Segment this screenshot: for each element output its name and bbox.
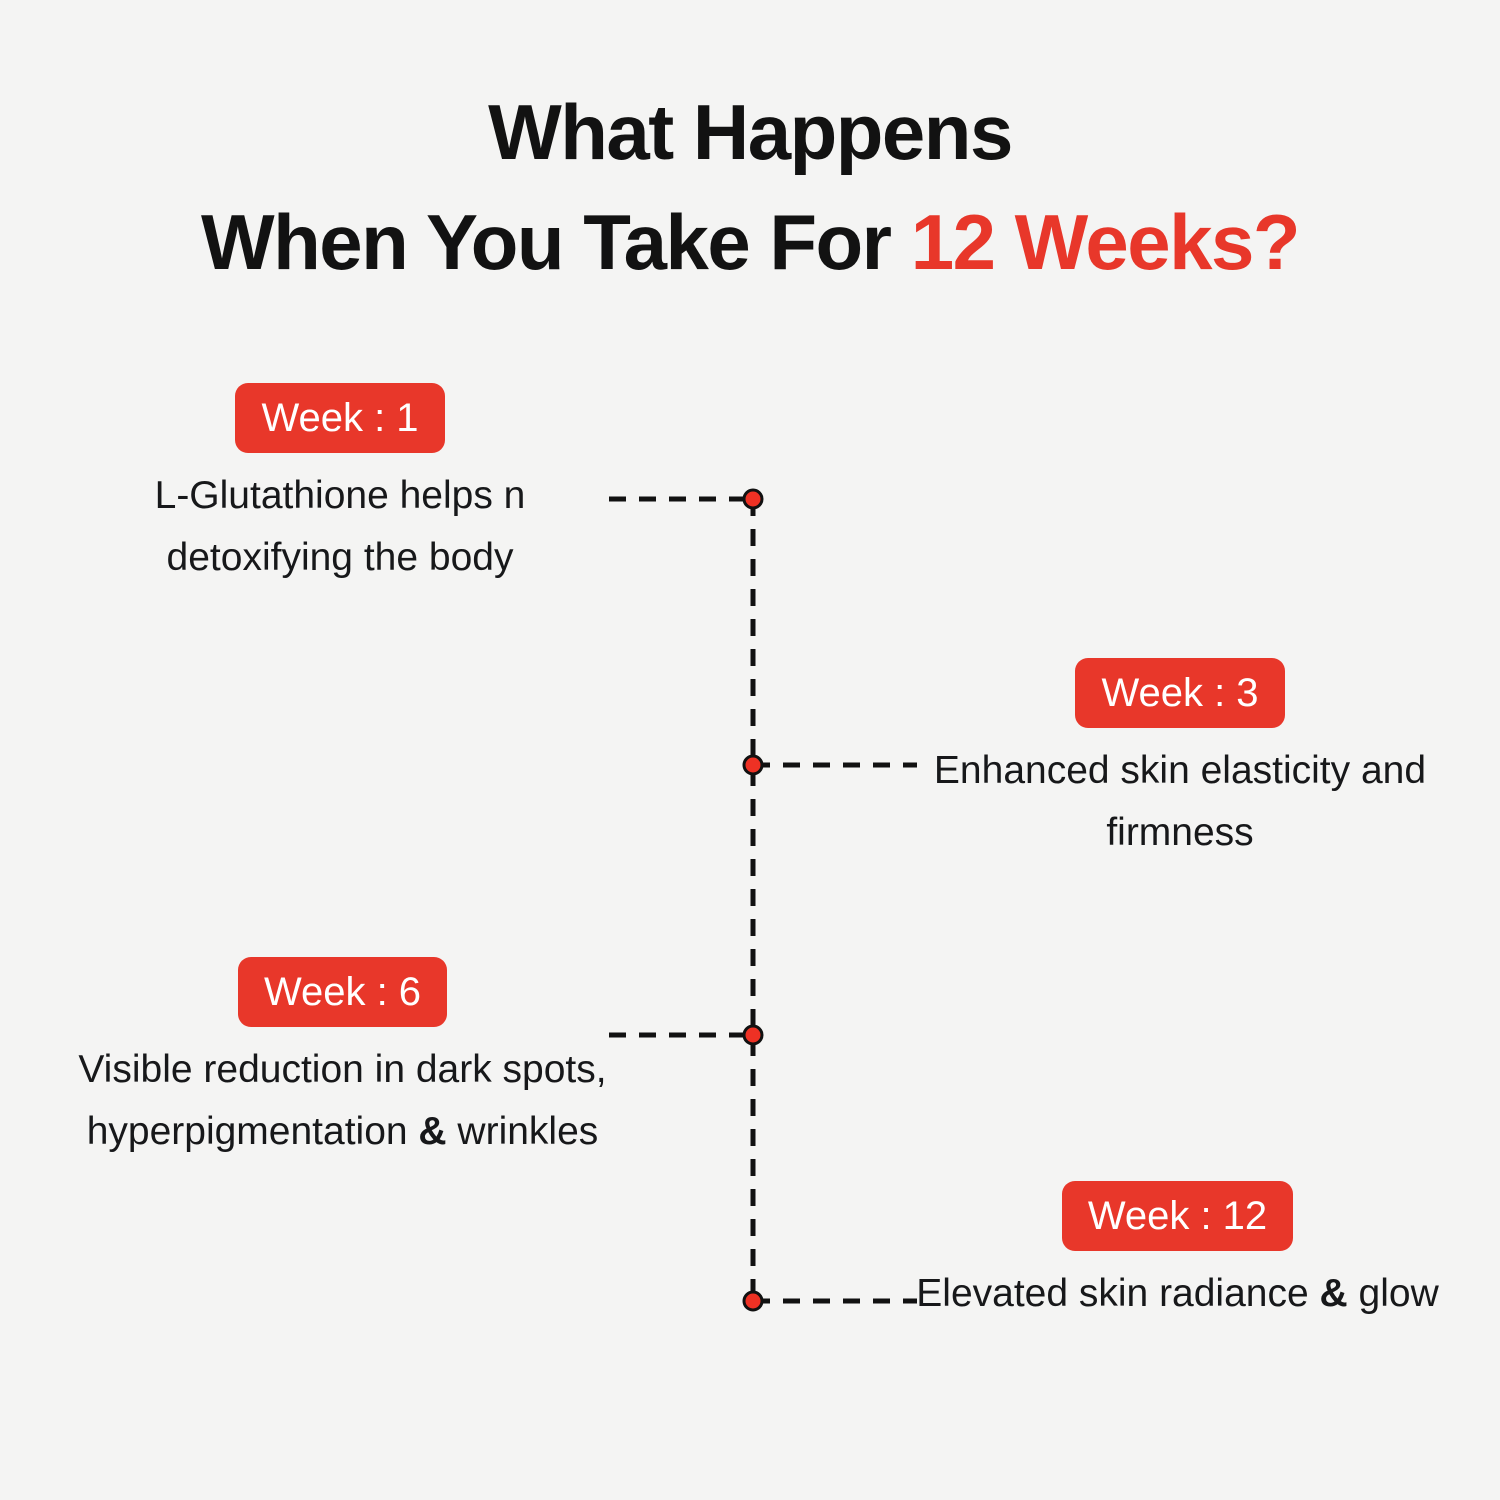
infographic-canvas: What Happens When You Take For 12 Weeks?… <box>0 0 1500 1500</box>
milestone-description-week-12-part2: glow <box>1348 1272 1439 1315</box>
status-badge-week-12: Week : 12 <box>1062 1181 1293 1251</box>
badge-row-week-1: Week : 1 <box>95 383 585 453</box>
status-badge-week-6: Week : 6 <box>238 957 447 1027</box>
status-badge-week-1: Week : 1 <box>235 383 444 453</box>
page-title: What Happens When You Take For 12 Weeks? <box>0 78 1500 296</box>
milestone-description-week-6: Visible reduction in dark spots, hyperpi… <box>45 1039 640 1163</box>
milestone-description-week-1: L-Glutathione helps n detoxifying the bo… <box>95 465 585 589</box>
status-badge-week-3: Week : 3 <box>1075 658 1284 728</box>
badge-row-week-6: Week : 6 <box>45 957 640 1027</box>
node-dot-week-3 <box>744 756 762 774</box>
milestone-description-week-12: Elevated skin radiance & glow <box>900 1263 1455 1325</box>
page-title-line-1: What Happens <box>0 78 1500 186</box>
milestone-description-week-12-ampersand: & <box>1320 1272 1348 1315</box>
milestone-week-3: Week : 3 Enhanced skin elasticity and fi… <box>900 658 1460 864</box>
node-dot-week-6 <box>744 1026 762 1044</box>
node-dot-week-1 <box>744 490 762 508</box>
milestone-description-week-3: Enhanced skin elasticity and firmness <box>900 740 1460 864</box>
node-dot-week-12 <box>744 1292 762 1310</box>
page-title-accent: 12 Weeks? <box>911 198 1299 286</box>
page-title-line-2: When You Take For 12 Weeks? <box>0 188 1500 296</box>
milestone-description-week-12-part1: Elevated skin radiance <box>916 1272 1319 1315</box>
milestone-week-12: Week : 12 Elevated skin radiance & glow <box>900 1181 1455 1325</box>
badge-row-week-3: Week : 3 <box>900 658 1460 728</box>
badge-row-week-12: Week : 12 <box>900 1181 1455 1251</box>
page-title-line-2-prefix: When You Take For <box>201 198 911 286</box>
milestone-description-week-6-ampersand: & <box>418 1110 446 1153</box>
milestone-week-6: Week : 6 Visible reduction in dark spots… <box>45 957 640 1163</box>
milestone-description-week-6-part2: wrinkles <box>447 1110 599 1153</box>
milestone-week-1: Week : 1 L-Glutathione helps n detoxifyi… <box>95 383 585 589</box>
